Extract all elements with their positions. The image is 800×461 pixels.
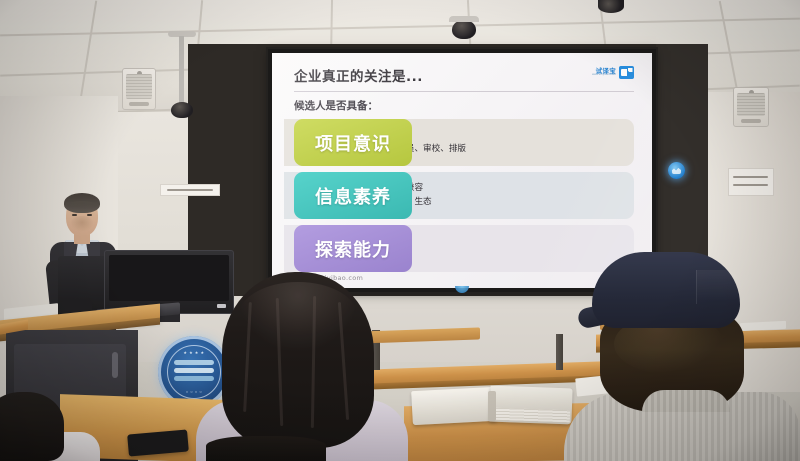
right-wall-sign (728, 168, 774, 196)
status-indicator-light (668, 162, 685, 179)
slide-row-chip: 项目意识 (294, 119, 412, 166)
open-textbook (412, 383, 572, 427)
slide-row: •流程：输入、处理、输出 •协同：客户、供应商、译员、审校、排版 项目意识 (294, 119, 634, 166)
student-collar (642, 390, 730, 412)
baseball-cap (592, 252, 740, 328)
book-spine (488, 391, 496, 421)
wall-speaker-left (122, 68, 156, 110)
presenter-eye-left (72, 214, 77, 216)
presenter-hair (64, 193, 100, 213)
book-page-left (411, 387, 497, 425)
left-wall-sign (160, 184, 220, 196)
brand-mark-icon (619, 66, 634, 79)
slide-row-chip: 信息素养 (294, 172, 412, 219)
slide-row-chip: 探索能力 (294, 225, 412, 272)
student-front-center (206, 436, 326, 461)
ceiling-fixture-dark (598, 0, 624, 13)
brand-url: www.shiyibao.com (592, 74, 616, 77)
slide-title: 企业真正的关注是... (294, 65, 423, 85)
screen-power-led (455, 286, 469, 293)
classroom-photo-scene: 企业真正的关注是... 试译宝 www.shiyibao.com 候选人是否具备… (0, 0, 800, 461)
cap-seam (696, 270, 741, 304)
podium-hinge (112, 352, 118, 378)
student-long-hair (196, 272, 408, 461)
student-hair (222, 272, 374, 448)
presenter-face-shading (70, 216, 94, 232)
presenter-eye-right (87, 214, 92, 216)
wall-speaker-right (733, 87, 769, 127)
slide-title-row: 企业真正的关注是... 试译宝 www.shiyibao.com (294, 65, 634, 92)
student-hair (0, 392, 64, 461)
classroom-room: 企业真正的关注是... 试译宝 www.shiyibao.com 候选人是否具备… (0, 0, 800, 461)
student-navy-cap (556, 252, 800, 461)
slide-row: •文件数量、格式、转换、兼容 •文本、数据、工具、系统、生态 信息素养 (294, 172, 634, 219)
brand-logo: 试译宝 www.shiyibao.com (592, 66, 634, 79)
student-front-left (0, 392, 104, 461)
slide-subtitle: 候选人是否具备： (294, 98, 378, 113)
